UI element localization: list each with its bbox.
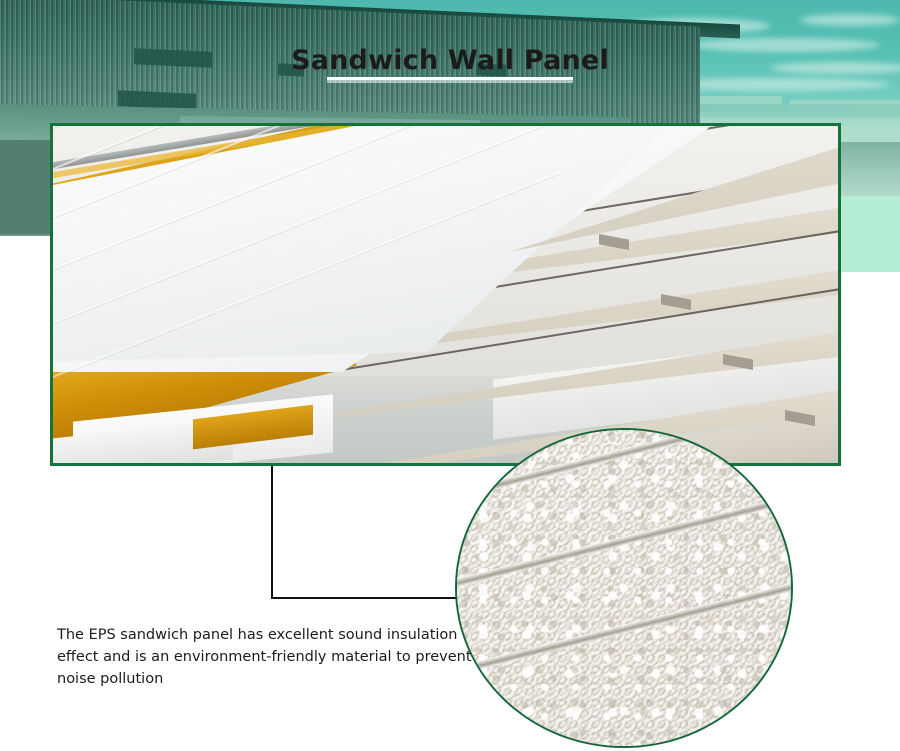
title-underline — [327, 77, 573, 80]
leader-line-horizontal — [271, 597, 459, 599]
product-detail-page: Sandwich Wall Panel — [0, 0, 900, 751]
eps-foam-texture — [455, 428, 793, 748]
detail-circle[interactable] — [455, 428, 793, 748]
caption-text: The EPS sandwich panel has excellent sou… — [57, 624, 477, 690]
product-image-canvas — [53, 126, 838, 463]
panel-stack — [53, 126, 838, 463]
cloud-icon — [800, 14, 900, 26]
product-image[interactable] — [50, 123, 841, 466]
leader-line-vertical — [271, 466, 273, 599]
page-title: Sandwich Wall Panel — [0, 45, 900, 76]
